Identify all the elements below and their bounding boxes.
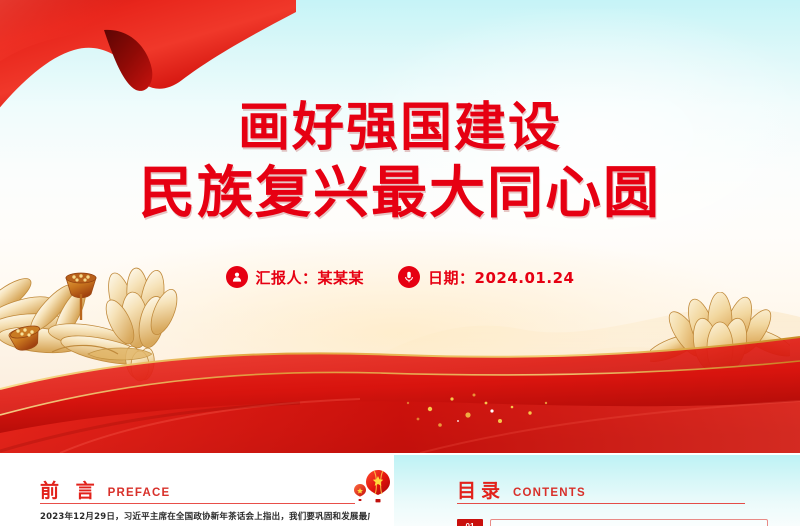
presenter-item: 汇报人：某某某 (226, 266, 365, 288)
red-ribbon-wave (0, 303, 800, 453)
contents-item-number: 01 (457, 519, 483, 526)
preface-title-en: PREFACE (108, 488, 171, 502)
title-line-1: 画好强国建设 (0, 98, 800, 159)
contents-slide[interactable] (394, 455, 800, 526)
contents-divider (457, 503, 745, 504)
hot-air-balloons-icon (352, 466, 394, 506)
preface-body-text: 2023年12月29日，习近平主席在全国政协新年茶话会上指出，我们要巩固和发展最… (40, 511, 370, 524)
cover-slide: 画好强国建设 民族复兴最大同心圆 汇报人：某某某 (0, 0, 800, 453)
slide-deck-preview: 画好强国建设 民族复兴最大同心圆 汇报人：某某某 (0, 0, 800, 526)
preface-heading: 前 言 PREFACE (40, 482, 170, 501)
cover-title: 画好强国建设 民族复兴最大同心圆 (0, 98, 800, 227)
red-silk-ribbon-decoration (0, 0, 296, 114)
person-icon (226, 266, 248, 288)
title-line-2: 民族复兴最大同心圆 (0, 161, 800, 227)
preface-title-cn: 前 言 (40, 482, 100, 501)
preface-divider (40, 503, 355, 504)
date-item: 日期：2024.01.24 (398, 266, 574, 288)
cover-meta-row: 汇报人：某某某 日期：2024.01.24 (0, 266, 800, 288)
presenter-label: 汇报人：某某某 (256, 267, 365, 288)
contents-item-01[interactable]: 01 (457, 519, 768, 526)
date-label: 日期：2024.01.24 (428, 267, 574, 288)
contents-title-en: CONTENTS (513, 488, 586, 502)
contents-item-box (490, 519, 768, 526)
microphone-icon (398, 266, 420, 288)
contents-heading: 目录 CONTENTS (457, 482, 586, 501)
contents-title-cn: 目录 (457, 482, 505, 501)
